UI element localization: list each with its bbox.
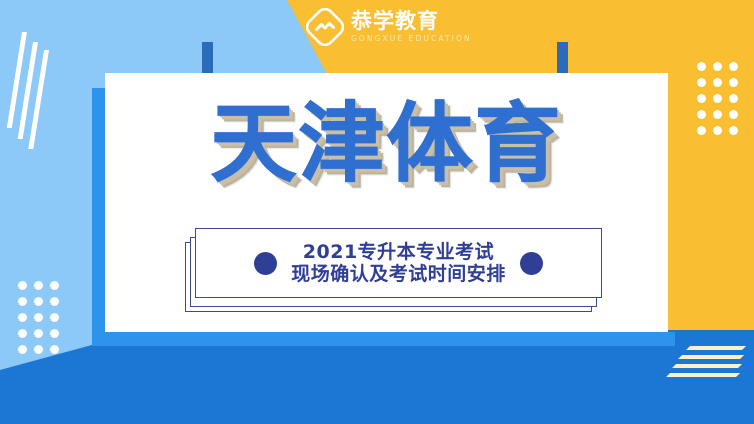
page-title: 天津体育: [211, 101, 563, 187]
page-title-wrap: 天津体育: [105, 101, 668, 187]
diagonal-lines-top-left-icon: [22, 32, 82, 142]
card-edge-bottom: [92, 332, 675, 346]
subtitle-text: 2021专升本专业考试 现场确认及考试时间安排: [291, 241, 506, 286]
bullet-dot-right-icon: [520, 252, 543, 275]
subtitle-line-2: 现场确认及考试时间安排: [291, 263, 506, 285]
dot-grid-right-icon: [697, 62, 738, 135]
brand-name-cn: 恭学教育: [351, 11, 472, 32]
main-card: 天津体育 2021专升本专业考试 现场确认及考试时间安排: [105, 73, 668, 332]
brand-logo: 恭学教育 GONGXUE EDUCATION: [306, 8, 472, 46]
dot-grid-left-icon: [18, 281, 59, 354]
diagonal-lines-bottom-right-icon: [652, 346, 742, 380]
poster-canvas: 恭学教育 GONGXUE EDUCATION 天津体育 2021专升本专业考试 …: [0, 0, 754, 424]
bullet-dot-left-icon: [254, 252, 277, 275]
brand-name-en: GONGXUE EDUCATION: [351, 35, 472, 43]
subtitle-box-front: 2021专升本专业考试 现场确认及考试时间安排: [195, 228, 602, 298]
card-edge-left: [92, 88, 106, 346]
diamond-mountain-logo-icon: [306, 8, 344, 46]
subtitle-stack: 2021专升本专业考试 现场确认及考试时间安排: [185, 228, 605, 314]
brand-logo-text: 恭学教育 GONGXUE EDUCATION: [351, 11, 472, 43]
subtitle-line-1: 2021专升本专业考试: [303, 241, 494, 263]
